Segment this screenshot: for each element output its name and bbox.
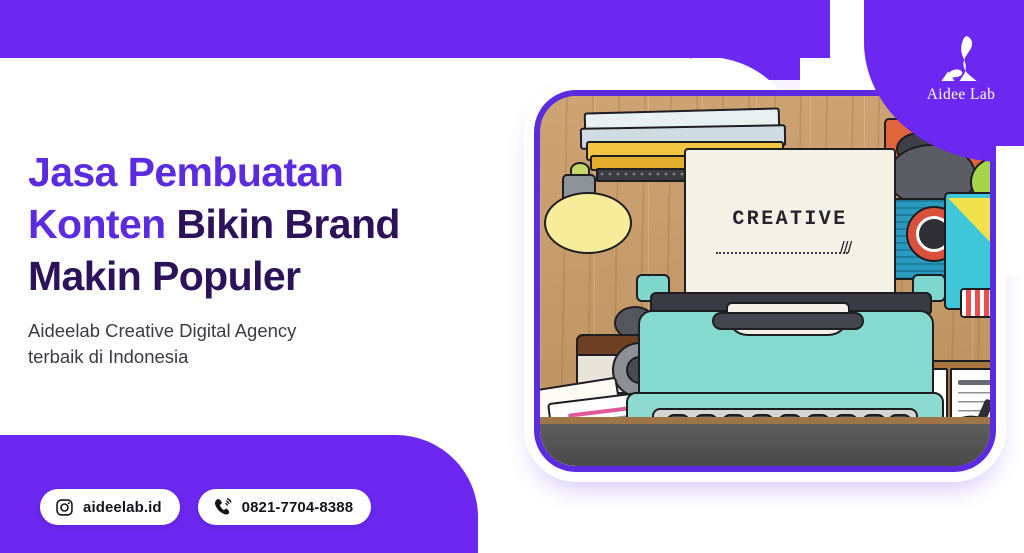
page-title: Jasa Pembuatan Konten Bikin Brand Makin … — [28, 146, 498, 302]
aidee-lab-a-mark-icon — [939, 34, 983, 84]
headline-line-3: Makin Populer — [28, 253, 300, 299]
notebook-heading — [958, 380, 990, 385]
instagram-handle: aideelab.id — [83, 499, 162, 516]
typewriter-slashes: /// — [840, 238, 851, 258]
contact-pills: aideelab.id 0821-7704-8388 — [40, 489, 371, 525]
top-purple-bar — [0, 0, 760, 58]
right-white-notch — [996, 146, 1024, 276]
headline-block: Jasa Pembuatan Konten Bikin Brand Makin … — [28, 146, 498, 370]
phone-number: 0821-7704-8388 — [242, 499, 354, 516]
desk-front-edge — [540, 424, 990, 466]
phone-ringing-icon — [213, 497, 233, 517]
subtitle-line-1: Aideelab Creative Digital Agency — [28, 320, 296, 341]
promo-banner: CREATIVE /// — [0, 0, 1024, 553]
headline-line-2-accent: Konten — [28, 201, 176, 247]
instagram-contact-pill[interactable]: aideelab.id — [40, 489, 180, 525]
photo-inner: CREATIVE /// — [540, 96, 990, 466]
phone-contact-pill[interactable]: 0821-7704-8388 — [198, 489, 372, 525]
subtitle-line-2: terbaik di Indonesia — [28, 346, 188, 367]
subtitle: Aideelab Creative Digital Agency terbaik… — [28, 318, 498, 370]
brand-wordmark: Aidee Lab — [927, 86, 996, 104]
typewriter-carriage — [712, 312, 864, 330]
creative-desk-photo-card: CREATIVE /// — [534, 90, 996, 472]
striped-card-icon — [960, 288, 990, 318]
headline-line-2-ink: Bikin Brand — [176, 201, 400, 247]
instagram-icon — [55, 498, 74, 517]
typewriter-dotted-line — [716, 252, 848, 254]
desk-lamp-icon — [544, 192, 632, 254]
brand-logo: Aidee Lab — [920, 34, 1002, 104]
headline-line-1: Jasa Pembuatan — [28, 149, 343, 195]
folder-flap-icon — [948, 198, 990, 242]
typewriter-paper-text: CREATIVE — [684, 208, 896, 231]
